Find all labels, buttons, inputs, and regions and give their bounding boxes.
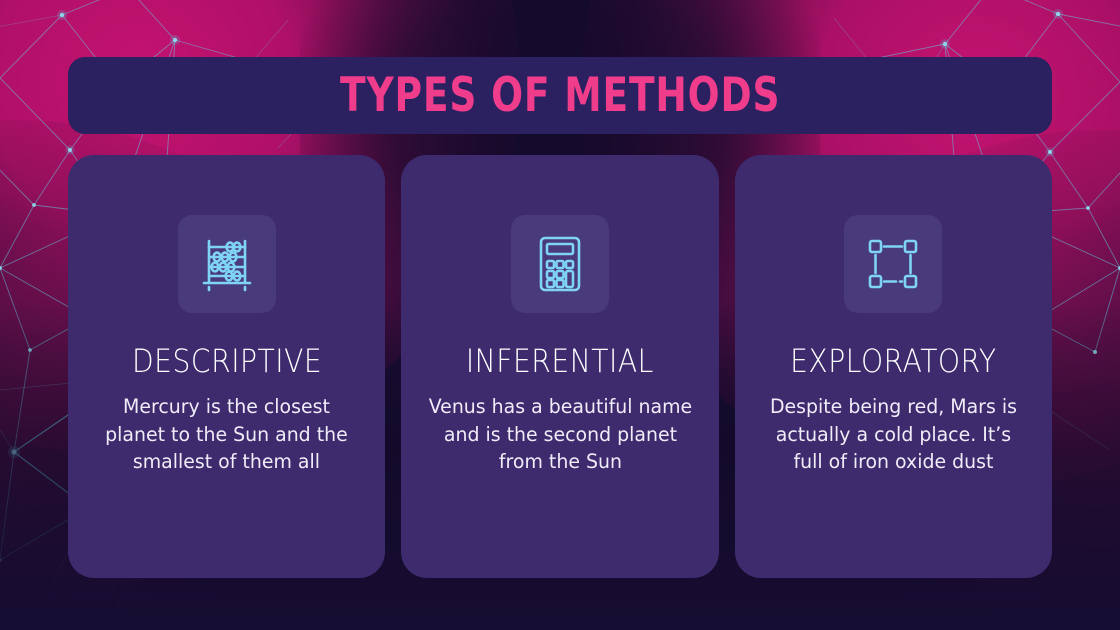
card-title: DESCRIPTIVE (132, 345, 322, 377)
abacus-icon (178, 215, 276, 313)
slide: TYPES OF METHODS (0, 0, 1120, 630)
card-body: Mercury is the closest planet to the Sun… (94, 393, 359, 476)
method-card-inferential[interactable]: INFERENTIAL Venus has a beautiful name a… (401, 155, 718, 578)
page-title: TYPES OF METHODS (340, 72, 780, 119)
card-title: INFERENTIAL (466, 345, 654, 377)
method-cards: DESCRIPTIVE Mercury is the closest plane… (68, 155, 1052, 578)
method-card-exploratory[interactable]: EXPLORATORY Despite being red, Mars is a… (735, 155, 1052, 578)
card-body: Despite being red, Mars is actually a co… (761, 393, 1026, 476)
title-bar: TYPES OF METHODS (68, 57, 1052, 134)
calculator-icon (511, 215, 609, 313)
card-body: Venus has a beautiful name and is the se… (428, 393, 693, 476)
method-card-descriptive[interactable]: DESCRIPTIVE Mercury is the closest plane… (68, 155, 385, 578)
selection-frame-icon (844, 215, 942, 313)
card-title: EXPLORATORY (790, 345, 997, 377)
